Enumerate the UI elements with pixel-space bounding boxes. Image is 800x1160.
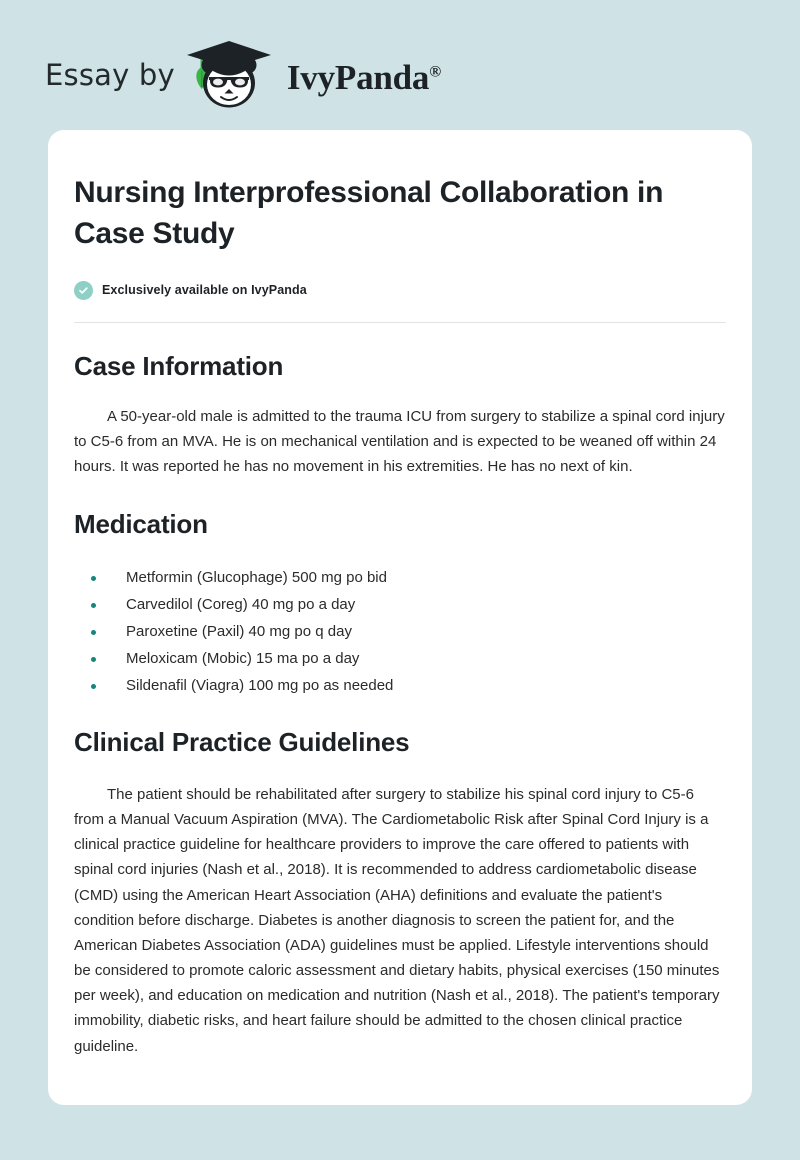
title-divider: [74, 322, 726, 323]
essay-card: Nursing Interprofessional Collaboration …: [48, 130, 752, 1105]
section-medication: Medication Metformin (Glucophage) 500 mg…: [74, 509, 726, 698]
list-item: Paroxetine (Paxil) 40 mg po q day: [74, 620, 726, 645]
document-page: Essay by: [0, 0, 800, 1160]
check-circle-icon: [74, 281, 93, 300]
section-paragraph-clinical-practice-guidelines: The patient should be rehabilitated afte…: [74, 782, 726, 1059]
list-item: Meloxicam (Mobic) 15 ma po a day: [74, 647, 726, 672]
essay-by-label: Essay by: [45, 61, 175, 90]
page-header: Essay by: [0, 0, 800, 110]
list-item: Sildenafil (Viagra) 100 mg po as needed: [74, 674, 726, 699]
ivypanda-logo-lockup[interactable]: IvyPanda®: [185, 37, 441, 113]
page-title: Nursing Interprofessional Collaboration …: [74, 172, 714, 255]
registered-trademark-mark: ®: [429, 63, 441, 80]
section-case-information: Case Information A 50-year-old male is a…: [74, 351, 726, 480]
section-heading-medication: Medication: [74, 509, 726, 540]
section-heading-clinical-practice-guidelines: Clinical Practice Guidelines: [74, 727, 726, 758]
ivypanda-wordmark: IvyPanda®: [287, 60, 441, 95]
section-paragraph-case-information: A 50-year-old male is admitted to the tr…: [74, 404, 726, 480]
section-clinical-practice-guidelines: Clinical Practice Guidelines The patient…: [74, 727, 726, 1059]
list-item: Carvedilol (Coreg) 40 mg po a day: [74, 593, 726, 618]
medication-list: Metformin (Glucophage) 500 mg po bid Car…: [74, 566, 726, 698]
panda-graduate-logo-icon: [185, 37, 281, 113]
brand-name-text: IvyPanda: [287, 58, 429, 97]
list-item: Metformin (Glucophage) 500 mg po bid: [74, 566, 726, 591]
exclusivity-badge: Exclusively available on IvyPanda: [74, 281, 726, 300]
exclusivity-badge-label: Exclusively available on IvyPanda: [102, 283, 307, 297]
section-heading-case-information: Case Information: [74, 351, 726, 382]
